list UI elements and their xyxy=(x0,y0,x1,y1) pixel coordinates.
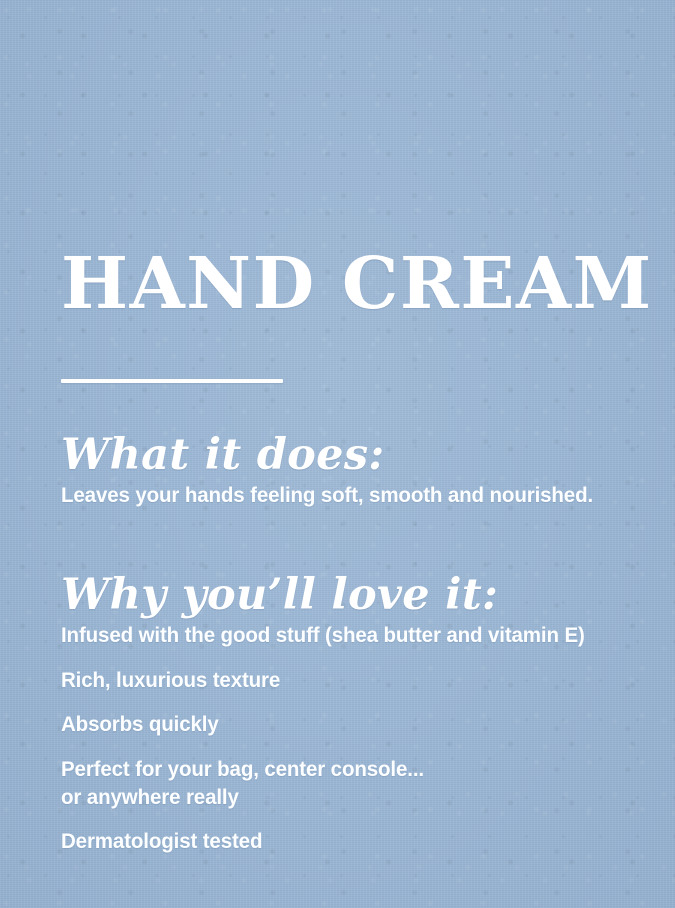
list-item: Leaves your hands feeling soft, smooth a… xyxy=(61,482,634,510)
list-item: Dermatologist tested xyxy=(61,828,634,856)
section-heading: Why you’ll love it: xyxy=(61,572,661,618)
list-item: Rich, luxurious texture xyxy=(61,667,634,695)
benefit-list: Leaves your hands feeling soft, smooth a… xyxy=(61,482,661,510)
section-what-it-does: What it does: Leaves your hands feeling … xyxy=(61,432,661,510)
section-heading: What it does: xyxy=(61,432,661,478)
section-why-youll-love-it: Why you’ll love it: Infused with the goo… xyxy=(61,572,661,856)
title-divider xyxy=(61,379,283,383)
list-item: Infused with the good stuff (shea butter… xyxy=(61,622,634,650)
list-item: Absorbs quickly xyxy=(61,711,634,739)
list-item: Perfect for your bag, center console... … xyxy=(61,756,634,811)
page-title: HAND CREAM xyxy=(61,248,653,319)
poster-content: HAND CREAM What it does: Leaves your han… xyxy=(0,0,675,908)
benefit-list: Infused with the good stuff (shea butter… xyxy=(61,622,661,855)
product-poster: HAND CREAM What it does: Leaves your han… xyxy=(0,0,675,908)
